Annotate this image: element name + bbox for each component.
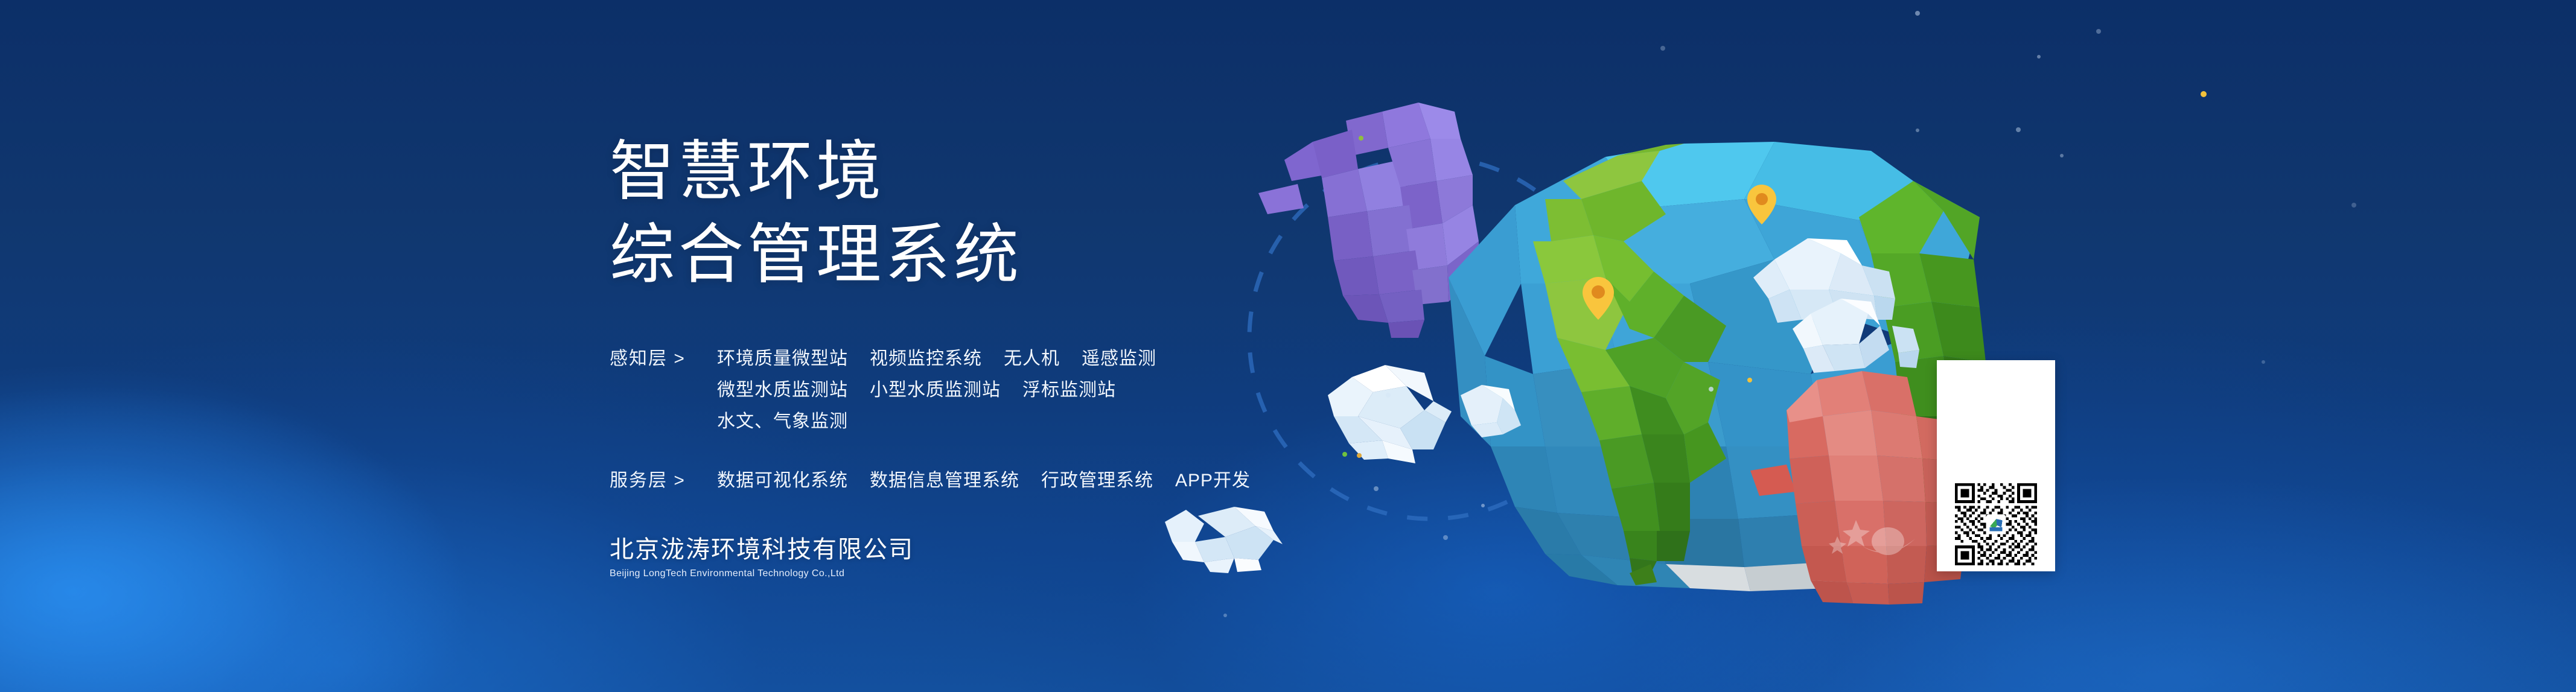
qr-code-image[interactable] xyxy=(1940,480,2052,568)
hero-banner: 智慧环境 综合管理系统 感知层 > 环境质量微型站 视频监控系统 无人机 遥感监… xyxy=(0,0,2576,692)
layer-items-sensing: 环境质量微型站 视频监控系统 无人机 遥感监测 微型水质监测站 小型水质监测站 … xyxy=(700,343,1156,437)
layer-item[interactable]: APP开发 xyxy=(1175,465,1251,497)
layer-item[interactable]: 数据信息管理系统 xyxy=(870,465,1019,497)
layer-row-sensing: 感知层 > 环境质量微型站 视频监控系统 无人机 遥感监测 微型水质监测站 小型… xyxy=(610,343,1455,437)
company-name-cn: 北京泷涛环境科技有限公司 xyxy=(610,534,1455,565)
layer-item[interactable]: 微型水质监测站 xyxy=(717,375,848,406)
layer-label-service: 服务层 > xyxy=(610,465,700,497)
layer-item[interactable]: 视频监控系统 xyxy=(870,343,982,375)
brand-name: LONGTECH xyxy=(1960,386,2033,400)
layer-item[interactable]: 遥感监测 xyxy=(1082,343,1156,375)
cross-icon: ✕ xyxy=(1992,408,2000,420)
layer-item[interactable]: 小型水质监测站 xyxy=(870,375,1001,406)
title-line-2: 综合管理系统 xyxy=(610,213,1455,296)
qr-card-header: LONGTECH ✕ NEWTECHNOLOGYNEW WORLD xyxy=(1940,363,2052,478)
hero-copy: 智慧环境 综合管理系统 感知层 > 环境质量微型站 视频监控系统 无人机 遥感监… xyxy=(610,130,1455,579)
company-name-en: Beijing LongTech Environmental Technolog… xyxy=(610,568,1455,579)
title-line-1: 智慧环境 xyxy=(610,130,1455,213)
layer-subrow: 微型水质监测站 小型水质监测站 浮标监测站 xyxy=(717,375,1156,406)
brand-tagline: NEWTECHNOLOGYNEW WORLD xyxy=(1971,425,2020,456)
layer-subrow: 数据可视化系统 数据信息管理系统 行政管理系统 APP开发 xyxy=(717,465,1251,497)
qr-code-svg xyxy=(1943,483,2049,565)
layer-subrow: 环境质量微型站 视频监控系统 无人机 遥感监测 xyxy=(717,343,1156,375)
page-title: 智慧环境 综合管理系统 xyxy=(610,130,1455,296)
layer-item[interactable]: 无人机 xyxy=(1004,343,1060,375)
glow-bottom-left xyxy=(0,386,471,692)
layer-subrow: 水文、气象监测 xyxy=(717,406,1156,437)
layer-item[interactable]: 浮标监测站 xyxy=(1022,375,1116,406)
layer-item[interactable]: 水文、气象监测 xyxy=(717,406,848,437)
layers-list: 感知层 > 环境质量微型站 视频监控系统 无人机 遥感监测 微型水质监测站 小型… xyxy=(610,343,1455,497)
layer-item[interactable]: 数据可视化系统 xyxy=(717,465,848,497)
layer-items-service: 数据可视化系统 数据信息管理系统 行政管理系统 APP开发 xyxy=(700,465,1251,497)
layer-item[interactable]: 行政管理系统 xyxy=(1041,465,1153,497)
qr-promo-card[interactable]: LONGTECH ✕ NEWTECHNOLOGYNEW WORLD xyxy=(1937,360,2055,571)
layer-item[interactable]: 环境质量微型站 xyxy=(717,343,848,375)
layer-label-sensing: 感知层 > xyxy=(610,343,700,375)
layer-row-service: 服务层 > 数据可视化系统 数据信息管理系统 行政管理系统 APP开发 xyxy=(610,465,1455,497)
company-block: 北京泷涛环境科技有限公司 Beijing LongTech Environmen… xyxy=(610,534,1455,579)
